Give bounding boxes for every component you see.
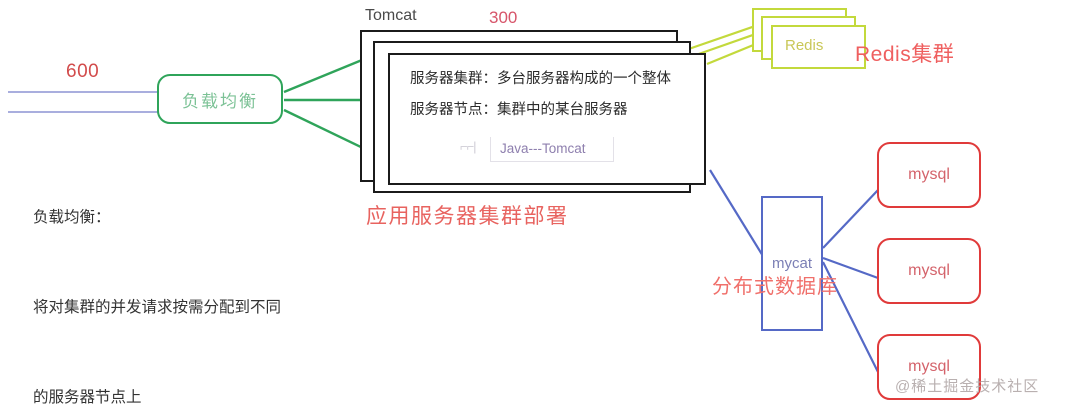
server-node-definition: 服务器节点：集群中的某台服务器 — [410, 95, 750, 126]
mycat-box[interactable]: mycat — [761, 196, 823, 331]
wire-mycat-mysql-1 — [823, 190, 878, 248]
tomcat-caption: Tomcat — [365, 8, 417, 24]
java-runtime-widget[interactable]: ⌐⌐| Java---Tomcat — [460, 137, 614, 162]
mysql-node-box[interactable]: mysql — [877, 238, 981, 304]
load-balancer-label: 负载均衡 — [159, 76, 281, 122]
distributed-database-label: 分布式数据库 — [712, 277, 838, 297]
mysql-node-box[interactable]: mysql — [877, 142, 981, 208]
java-runtime-label: Java---Tomcat — [500, 141, 586, 156]
mysql-node-label: mysql — [879, 240, 979, 302]
redis-node-label: Redis — [785, 38, 823, 53]
load-balancer-note-line-2: 将对集群的并发请求按需分配到不同 — [33, 293, 281, 323]
tomcat-request-count: 300 — [489, 9, 517, 26]
watermark: @稀土掘金技术社区 — [895, 379, 1039, 394]
load-balancer-box[interactable]: 负载均衡 — [157, 74, 283, 124]
mycat-label: mycat — [763, 198, 821, 329]
bracket-icon: ⌐⌐| — [460, 139, 476, 154]
load-balancer-note-line-1: 负载均衡： — [33, 203, 281, 233]
wire-mycat-mysql-2 — [823, 258, 878, 278]
app-cluster-deployment-label: 应用服务器集群部署 — [366, 206, 569, 227]
incoming-request-count: 600 — [66, 62, 99, 81]
load-balancer-note: 负载均衡： 将对集群的并发请求按需分配到不同 的服务器节点上 — [33, 143, 281, 410]
redis-cluster-label: Redis集群 — [855, 44, 954, 65]
load-balancer-note-line-3: 的服务器节点上 — [33, 383, 281, 410]
mysql-node-label: mysql — [879, 144, 979, 206]
wire-lb-tomcat-1 — [284, 60, 362, 92]
server-cluster-definition: 服务器集群：多台服务器构成的一个整体 — [410, 64, 750, 95]
tomcat-definitions: 服务器集群：多台服务器构成的一个整体 服务器节点：集群中的某台服务器 — [410, 64, 750, 126]
architecture-diagram: 600 负载均衡 负载均衡： 将对集群的并发请求按需分配到不同 的服务器节点上 … — [0, 0, 1079, 410]
